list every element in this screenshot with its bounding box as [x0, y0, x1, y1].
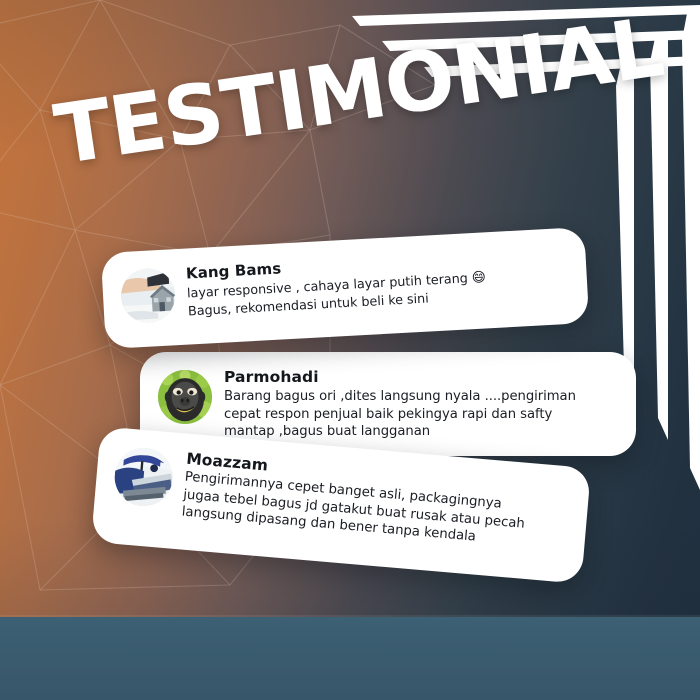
house-handshake-photo-icon — [120, 267, 177, 324]
testimonial-body-3: Moazzam Pengirimannya cepet banget asli,… — [181, 450, 568, 554]
customer-name: Parmohadi — [224, 369, 614, 386]
monkey-selfie-photo-icon — [158, 370, 212, 424]
testimonial-line: cepat respon penjual baik pekingya rapi … — [224, 407, 552, 422]
testimonial-line: mantap ,bagus buat langganan — [224, 424, 430, 439]
bottom-band — [0, 617, 700, 700]
testimonial-poster: TESTIMONIAL Kang Bams layar responsive ,… — [0, 0, 700, 700]
testimonial-line: Barang bagus ori ,dites langsung nyala .… — [224, 389, 576, 404]
testimonial-text: Barang bagus ori ,dites langsung nyala .… — [224, 388, 614, 439]
testimonial-body-1: Kang Bams layar responsive , cahaya laya… — [186, 244, 567, 321]
testimonial-body-2: Parmohadi Barang bagus ori ,dites langsu… — [224, 368, 614, 440]
blue-umbrella-equipment-photo-icon — [112, 446, 175, 509]
grinning-face-emoji-icon: 😄 — [471, 269, 486, 286]
